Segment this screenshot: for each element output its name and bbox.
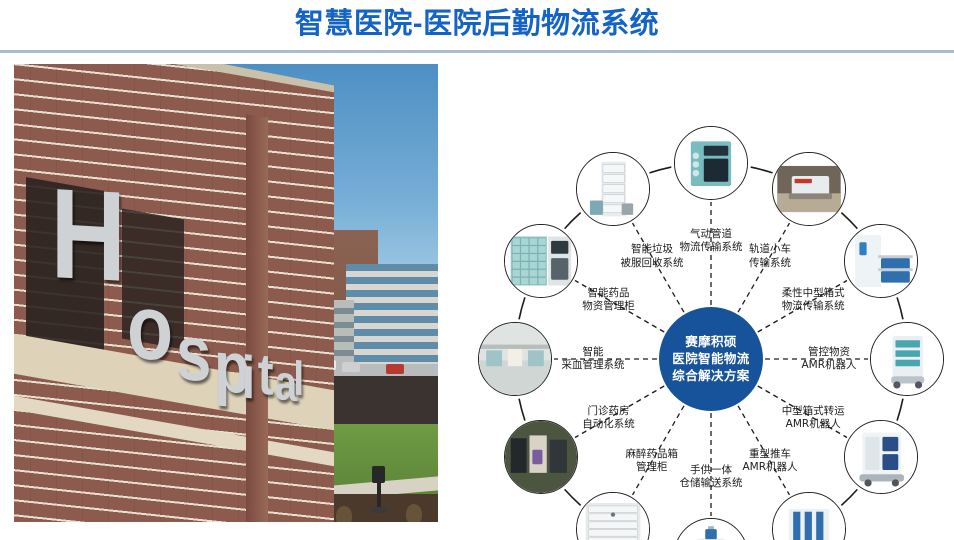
controlled-supply-amr-icon [871,323,943,395]
diagram-node-label-n03: 柔性中型箱式物流传输系统 [782,287,845,314]
diagram-node-n07[interactable] [674,518,748,540]
hospital-sign-letter: H [50,170,126,302]
diagram-node-label-n05: 中型箱式转运AMR机器人 [782,405,845,432]
logistics-solution-diagram: 赛摩积硕 医院智能物流 综合解决方案 气动管道物流传输系统轨道小车传输系统柔性中… [468,60,954,538]
diagram-node-n05[interactable] [844,420,918,494]
photo-lamp-head-2 [372,466,385,483]
smart-medicine-cabinet-icon [505,225,577,297]
diagram-node-label-n01: 气动管道物流传输系统 [680,228,743,255]
narcotic-drug-cabinet-icon [577,493,649,540]
diagram-node-n12[interactable] [576,152,650,226]
diagram-node-label-n08: 麻醉药品箱管理柜 [626,448,679,475]
diagram-node-n02[interactable] [772,152,846,226]
diagram-ring-arc [649,167,671,173]
supply-storage-conveyor-icon [675,519,747,540]
label-line: 物流传输系统 [680,241,743,255]
label-line: 手供一体 [680,464,743,478]
hospital-sign-letter: o [127,280,173,375]
medium-box-transfer-amr-icon [845,421,917,493]
photo-lamp-post-2 [377,482,381,508]
label-line: 智能垃圾 [621,243,684,257]
hub-line-1: 赛摩积硕 [685,334,737,351]
photo-shrub-2 [336,506,352,522]
diagram-ring-arc [519,399,525,421]
diagram-hub: 赛摩积硕 医院智能物流 综合解决方案 [659,307,763,411]
diagram-node-label-n07: 手供一体仓储输送系统 [680,464,743,491]
diagram-node-label-n06: 重型推车AMR机器人 [743,448,798,475]
diagram-node-n01[interactable] [674,126,748,200]
diagram-node-n08[interactable] [576,492,650,540]
photo-parked-car-2 [342,362,360,372]
diagram-node-n10[interactable] [478,322,552,396]
label-line: 柔性中型箱式 [782,287,845,301]
flexible-box-conveyor-icon [845,225,917,297]
hospital-sign-letter: i [242,347,256,408]
photo-shrub-3 [406,504,422,522]
diagram-ring-arc [519,297,525,319]
label-line: 中型箱式转运 [782,405,845,419]
label-line: 仓储输送系统 [680,477,743,491]
diagram-ring-arc [751,167,773,173]
label-line: 智能 [562,346,625,360]
diagram-node-label-n04: 管控物资AMR机器人 [802,346,857,373]
diagram-node-label-n02: 轨道小车传输系统 [749,243,791,270]
hospital-exterior-photo: Hospital [14,64,438,522]
slide-root: 智慧医院-医院后勤物流系统 Hospital [0,0,954,540]
diagram-node-n11[interactable] [504,224,578,298]
diagram-node-label-n09: 门诊药房自动化系统 [582,405,635,432]
label-line: 重型推车 [743,448,798,462]
hub-line-2: 医院智能物流 [672,351,749,368]
diagram-node-n09[interactable] [504,420,578,494]
diagram-node-label-n11: 智能药品物资管理柜 [582,287,635,314]
label-line: 气动管道 [680,228,743,242]
label-line: AMR机器人 [782,418,845,432]
outpatient-pharmacy-automation-icon [505,421,577,493]
label-line: 物资管理柜 [582,300,635,314]
hospital-sign-letter: l [293,355,304,404]
diagram-node-n06[interactable] [772,492,846,540]
diagram-node-n04[interactable] [870,322,944,396]
hospital-sign-letter: t [258,345,274,405]
photo-lamp-base-2 [371,507,387,513]
label-line: 麻醉药品箱 [626,448,679,462]
waste-linen-recovery-icon [577,153,649,225]
diagram-node-label-n12: 智能垃圾被服回收系统 [621,243,684,270]
label-line: 智能药品 [582,287,635,301]
track-vehicle-icon [773,153,845,225]
heavy-cart-amr-icon [773,493,845,540]
pneumatic-tube-station-icon [675,127,747,199]
title-divider [0,50,954,53]
hub-line-3: 综合解决方案 [672,368,749,385]
label-line: 管控物资 [802,346,857,360]
label-line: AMR机器人 [743,461,798,475]
blood-collection-system-icon [479,323,551,395]
label-line: 轨道小车 [749,243,791,257]
label-line: 采血管理系统 [562,359,625,373]
diagram-node-label-n10: 智能采血管理系统 [562,346,625,373]
label-line: 自动化系统 [582,418,635,432]
label-line: 被服回收系统 [621,257,684,271]
photo-parked-car-3 [386,364,404,374]
label-line: 传输系统 [749,257,791,271]
hospital-sign-letter: s [176,312,212,393]
label-line: AMR机器人 [802,359,857,373]
page-title: 智慧医院-医院后勤物流系统 [0,2,954,46]
diagram-ring-arc [897,399,903,421]
label-line: 物流传输系统 [782,300,845,314]
label-line: 门诊药房 [582,405,635,419]
label-line: 管理柜 [626,461,679,475]
diagram-node-n03[interactable] [844,224,918,298]
diagram-ring-arc [897,297,903,319]
photo-corner-pillar [246,114,268,522]
